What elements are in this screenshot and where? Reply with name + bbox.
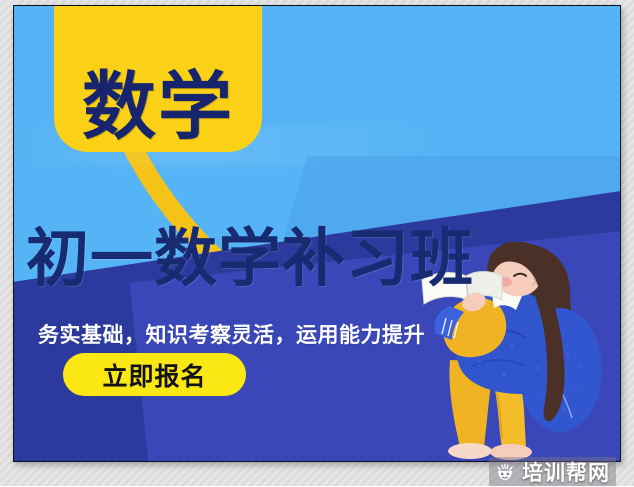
poster-card: 数学 初一数学补习班 务实基础，知识考察灵活，运用能力提升 立即报名 [13,5,621,462]
subject-badge: 数学 [54,5,262,152]
smiley-sun-icon [495,462,515,482]
poster-subtitle: 务实基础，知识考察灵活，运用能力提升 [38,319,425,349]
enroll-now-label: 立即报名 [102,357,206,393]
subject-badge-label: 数学 [82,70,234,144]
poster-root: 数学 初一数学补习班 务实基础，知识考察灵活，运用能力提升 立即报名 [0,0,634,486]
page-title: 初一数学补习班 [26,226,620,292]
watermark: 培训帮网 [489,457,616,486]
foot-left [448,443,492,459]
watermark-text: 培训帮网 [522,457,610,487]
enroll-now-button[interactable]: 立即报名 [63,353,246,396]
